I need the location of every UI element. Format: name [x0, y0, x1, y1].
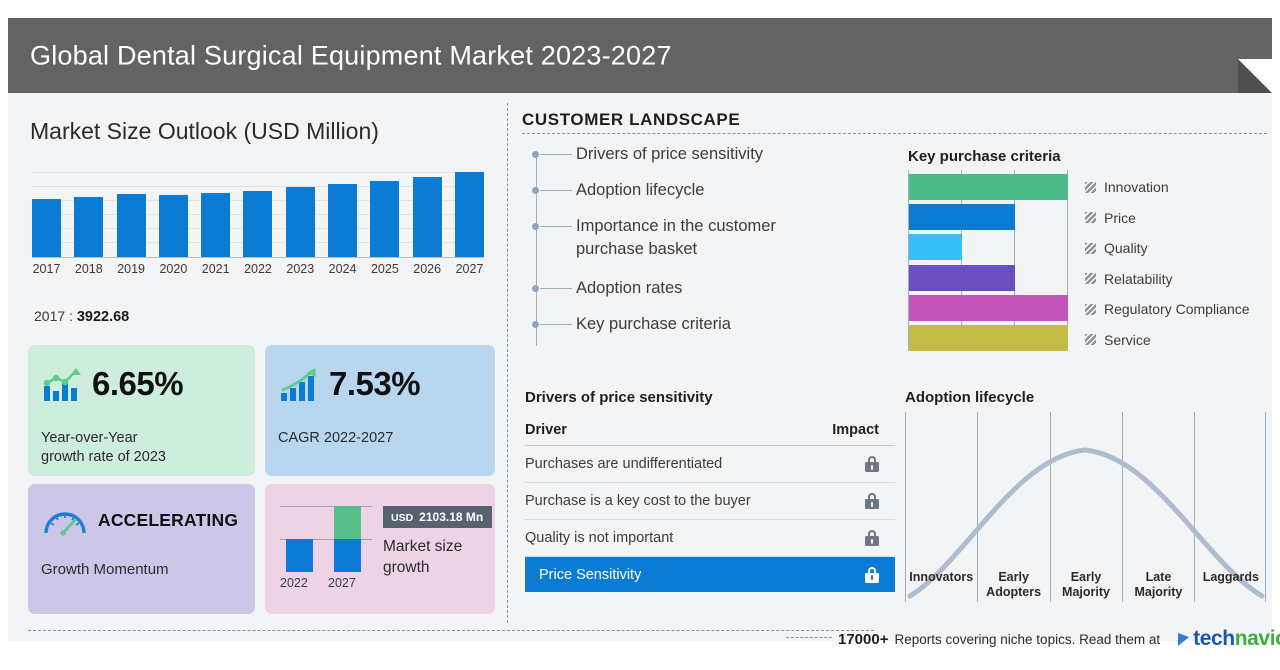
driver-label: Purchases are undifferentiated	[525, 456, 722, 472]
kpc-bar-quality	[909, 234, 962, 260]
speedometer-icon	[42, 504, 88, 536]
x-label-2021: 2021	[201, 262, 230, 276]
heading-underline	[522, 133, 1267, 134]
first-year-label: 2017 :	[34, 308, 73, 324]
column-impact: Impact	[832, 422, 879, 438]
first-year-amount: 3922.68	[77, 309, 129, 325]
bar-2018	[74, 197, 103, 257]
usd-amount: 2103.18 Mn	[419, 510, 483, 524]
corner-fold-decoration	[1238, 59, 1272, 93]
kpc-legend-item: Innovation	[1085, 172, 1280, 203]
table-row[interactable]: Quality is not important	[525, 520, 895, 557]
x-label-2027: 2027	[455, 262, 484, 276]
landscape-item-label: Adoption lifecycle	[576, 179, 704, 202]
adoption-lifecycle-title: Adoption lifecycle	[905, 389, 1034, 406]
cagr-caption: CAGR 2022-2027	[278, 429, 393, 448]
connector-line-icon	[536, 143, 576, 166]
kpc-legend-item: Relatability	[1085, 264, 1280, 295]
chart-growth-icon	[42, 366, 82, 403]
legend-label: Quality	[1104, 240, 1148, 256]
drivers-table-title: Drivers of price sensitivity	[525, 389, 713, 406]
driver-label: Price Sensitivity	[539, 567, 641, 583]
legend-label: Innovation	[1104, 179, 1169, 195]
usd-currency-label: USD	[391, 512, 413, 524]
table-row[interactable]: Purchases are undifferentiated	[525, 446, 895, 483]
kpc-bar-relatability	[909, 265, 1015, 291]
x-label-2026: 2026	[413, 262, 442, 276]
connector-line-icon	[536, 313, 576, 336]
kpc-bar-service	[909, 325, 1068, 351]
metric-card-market-size-growth: 2022 2027 USD 2103.18 Mn Market sizegrow…	[265, 484, 495, 614]
x-label-2025: 2025	[370, 262, 399, 276]
footer-bar: 17000+ Reports covering niche topics. Re…	[838, 627, 1280, 651]
driver-label: Quality is not important	[525, 530, 673, 546]
legend-swatch-icon	[1085, 212, 1096, 223]
brand-tech: tech	[1193, 627, 1235, 651]
legend-label: Relatability	[1104, 271, 1172, 287]
bar-2027	[455, 172, 484, 257]
page-header: Global Dental Surgical Equipment Market …	[8, 18, 1272, 93]
legend-swatch-icon	[1085, 182, 1096, 193]
column-driver: Driver	[525, 422, 567, 438]
legend-label: Price	[1104, 210, 1136, 226]
bar-2025	[370, 181, 399, 257]
bar-2019	[117, 194, 146, 257]
bar-2026	[413, 177, 442, 257]
technavio-logo[interactable]: tech navio	[1178, 627, 1280, 651]
x-label-2020: 2020	[159, 262, 188, 276]
footer-divider	[28, 630, 874, 631]
lifecycle-segment-label: Laggards	[1195, 570, 1267, 600]
page-title: Global Dental Surgical Equipment Market …	[30, 40, 672, 71]
x-label-2022: 2022	[243, 262, 272, 276]
kpc-bar-innovation	[909, 174, 1068, 200]
chart-axis	[32, 257, 484, 258]
legend-swatch-icon	[1085, 243, 1096, 254]
usd-value-badge: USD 2103.18 Mn	[383, 506, 492, 528]
adoption-lifecycle-labels: InnovatorsEarlyAdoptersEarlyMajorityLate…	[905, 570, 1267, 600]
lock-icon	[865, 493, 879, 509]
report-count: 17000+	[838, 631, 888, 648]
bar-2023	[286, 187, 315, 257]
yoy-caption: Year-over-Yeargrowth rate of 2023	[41, 429, 166, 467]
key-purchase-criteria-title: Key purchase criteria	[908, 148, 1061, 165]
footer-dash	[786, 637, 832, 638]
bar-2017	[32, 199, 61, 257]
landscape-item-label: Importance in the customer purchase bask…	[576, 215, 826, 261]
legend-label: Service	[1104, 332, 1151, 348]
bar-2021	[201, 193, 230, 257]
metric-card-cagr: 7.53% CAGR 2022-2027	[265, 345, 495, 476]
drivers-table-header: Driver Impact	[525, 422, 895, 446]
footer-text: Reports covering niche topics. Read them…	[894, 632, 1160, 647]
yoy-value: 6.65%	[92, 365, 183, 403]
market-size-outlook-title: Market Size Outlook (USD Million)	[30, 118, 379, 145]
landscape-item-label: Key purchase criteria	[576, 313, 731, 336]
bar-chart-x-labels: 2017201820192020202120222023202420252026…	[32, 262, 484, 276]
kpc-legend-item: Price	[1085, 203, 1280, 234]
connector-line-icon	[536, 179, 576, 202]
brand-navio: navio	[1235, 627, 1280, 651]
landscape-item[interactable]: Adoption rates	[536, 277, 896, 300]
kpc-bar-price	[909, 204, 1015, 230]
market-size-growth-caption: Market sizegrowth	[383, 536, 462, 578]
landscape-item-label: Drivers of price sensitivity	[576, 143, 763, 166]
kpc-legend-item: Quality	[1085, 233, 1280, 264]
x-label-2017: 2017	[32, 262, 61, 276]
bar-2022	[243, 191, 272, 257]
infographic-page: Global Dental Surgical Equipment Market …	[0, 0, 1280, 670]
x-label-2023: 2023	[286, 262, 315, 276]
drivers-table: Driver Impact Purchases are undifferenti…	[525, 422, 895, 592]
bar-2020	[159, 195, 188, 257]
landscape-item-label: Adoption rates	[576, 277, 682, 300]
driver-label: Purchase is a key cost to the buyer	[525, 493, 751, 509]
lock-icon	[865, 567, 879, 583]
lock-icon	[865, 530, 879, 546]
landscape-item[interactable]: Importance in the customer purchase bask…	[536, 215, 896, 261]
customer-landscape-heading: CUSTOMER LANDSCAPE	[522, 110, 740, 130]
customer-landscape-list: Drivers of price sensitivityAdoption lif…	[536, 143, 896, 349]
connector-line-icon	[536, 215, 576, 238]
cagr-value: 7.53%	[329, 365, 420, 403]
vertical-divider	[507, 103, 508, 623]
connector-line-icon	[536, 277, 576, 300]
x-label-2024: 2024	[328, 262, 357, 276]
momentum-caption: Growth Momentum	[41, 560, 169, 579]
landscape-item[interactable]: Drivers of price sensitivity	[536, 143, 896, 166]
x-label-2018: 2018	[74, 262, 103, 276]
legend-swatch-icon	[1085, 334, 1096, 345]
lifecycle-segment-label: EarlyMajority	[1050, 570, 1122, 600]
market-size-bar-chart	[32, 172, 484, 258]
table-row[interactable]: Price Sensitivity	[525, 557, 895, 592]
bar-chart-arrow-icon	[279, 366, 319, 403]
kpc-legend-item: Regulatory Compliance	[1085, 294, 1280, 325]
lock-icon	[865, 456, 879, 472]
growth-bars-icon: 2022 2027	[280, 500, 372, 592]
kpc-legend-item: Service	[1085, 325, 1280, 356]
legend-swatch-icon	[1085, 304, 1096, 315]
kpc-bar-regulatory-compliance	[909, 295, 1068, 321]
x-label-2019: 2019	[117, 262, 146, 276]
technavio-mark-icon	[1178, 633, 1189, 646]
landscape-item[interactable]: Adoption lifecycle	[536, 179, 896, 202]
legend-label: Regulatory Compliance	[1104, 301, 1250, 317]
table-row[interactable]: Purchase is a key cost to the buyer	[525, 483, 895, 520]
lifecycle-segment-label: EarlyAdopters	[977, 570, 1049, 600]
key-purchase-criteria-chart	[908, 170, 1068, 351]
lifecycle-segment-label: Innovators	[905, 570, 977, 600]
msg-year-2022: 2022	[280, 576, 308, 590]
lifecycle-segment-label: LateMajority	[1122, 570, 1194, 600]
bar-2024	[328, 184, 357, 257]
metric-card-yoy: 6.65% Year-over-Yeargrowth rate of 2023	[28, 345, 255, 476]
metric-card-momentum: ACCELERATING Growth Momentum	[28, 484, 255, 614]
first-year-value: 2017 : 3922.68	[34, 308, 129, 325]
msg-year-2027: 2027	[328, 576, 356, 590]
landscape-item[interactable]: Key purchase criteria	[536, 313, 896, 336]
bar-series	[32, 172, 484, 257]
momentum-value: ACCELERATING	[98, 510, 238, 531]
key-purchase-criteria-legend: InnovationPriceQualityRelatabilityRegula…	[1085, 172, 1280, 355]
legend-swatch-icon	[1085, 273, 1096, 284]
